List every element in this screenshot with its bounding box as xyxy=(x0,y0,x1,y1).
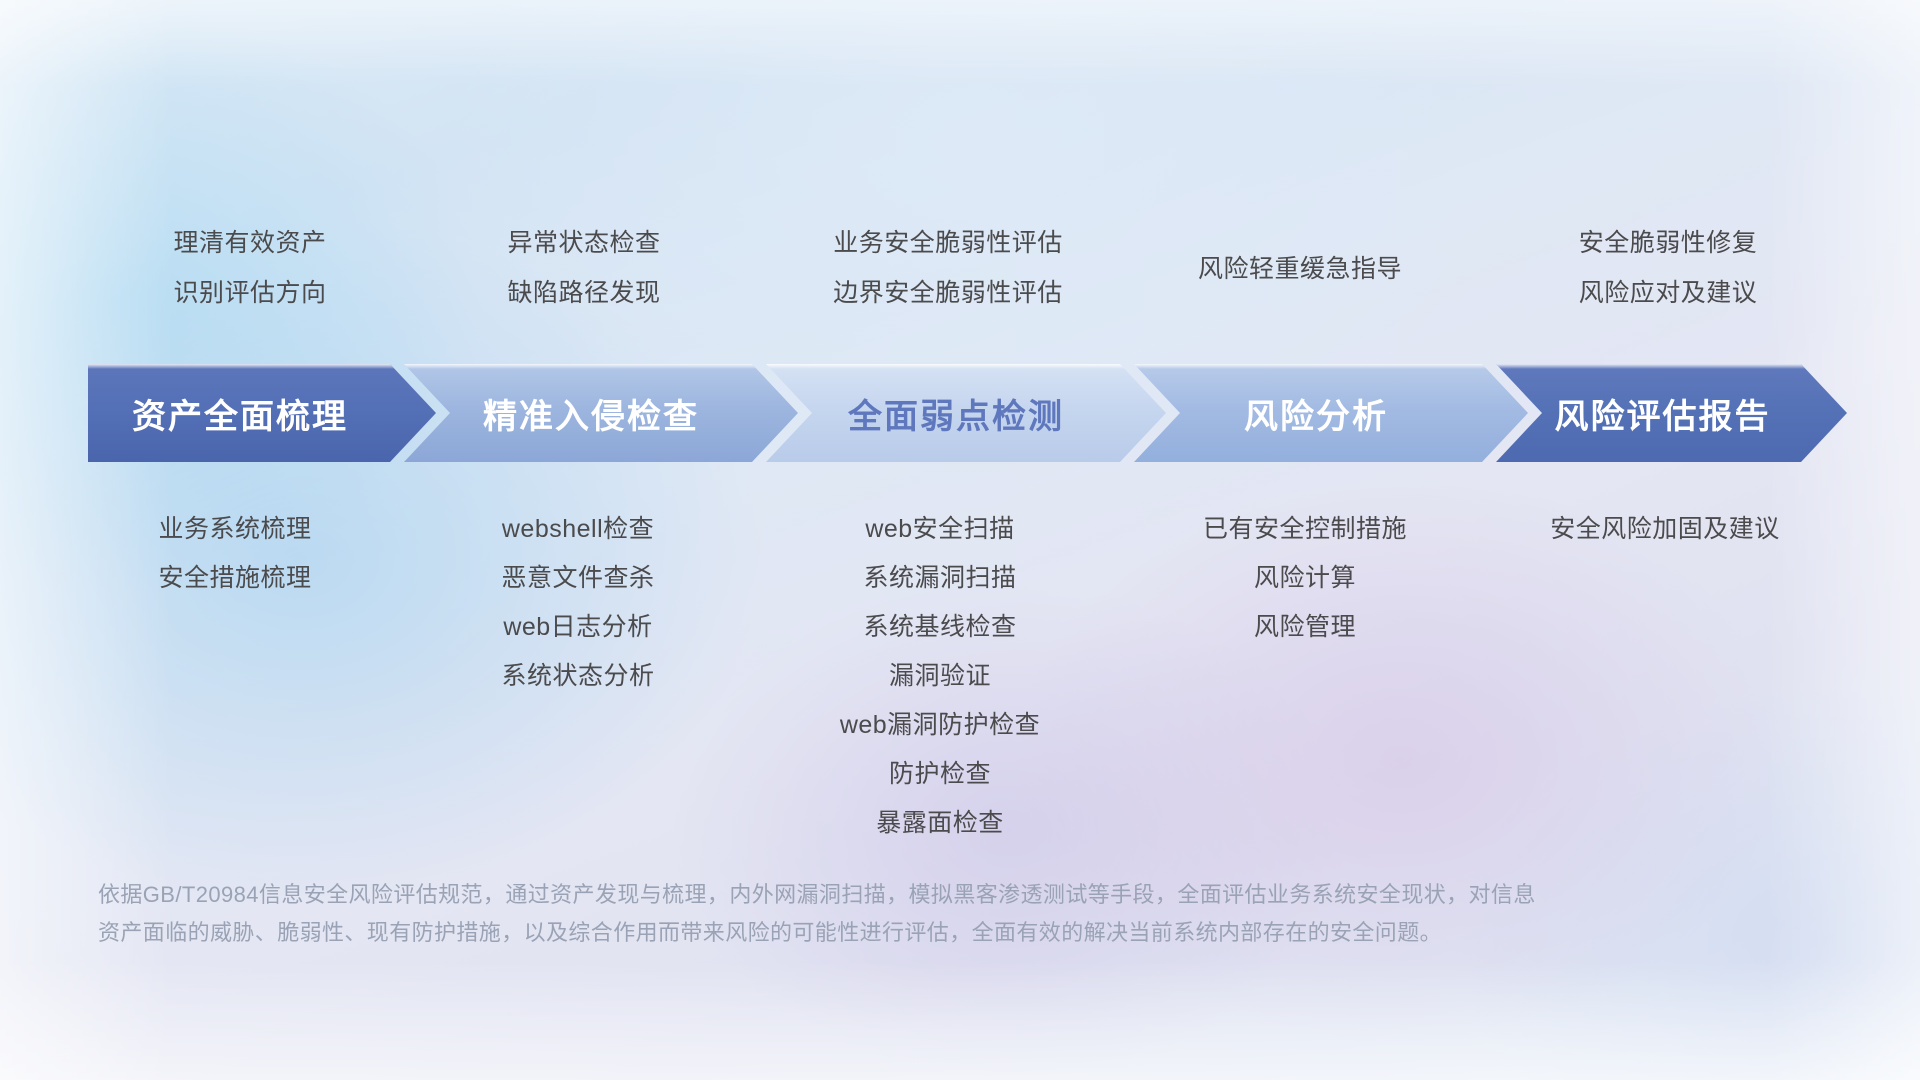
bottom-item: 安全措施梳理 xyxy=(158,554,311,603)
footer-description: 依据GB/T20984信息安全风险评估规范，通过资产发现与梳理，内外网漏洞扫描，… xyxy=(98,876,1718,952)
bottom-item: 系统漏洞扫描 xyxy=(863,554,1016,603)
bottom-item: web日志分析 xyxy=(503,603,652,652)
bottom-item: 业务系统梳理 xyxy=(158,505,311,554)
top-item: 异常状态检查 xyxy=(507,218,660,268)
top-item: 风险应对及建议 xyxy=(1579,268,1758,318)
stage-label: 资产全面梳理 xyxy=(132,389,348,438)
top-item: 安全脆弱性修复 xyxy=(1579,218,1758,268)
stage-chevron-intrusion-check[interactable]: 精准入侵检查 xyxy=(404,364,798,462)
stage-chevron-weakness-detection[interactable]: 全面弱点检测 xyxy=(766,364,1166,462)
stage-label: 风险分析 xyxy=(1244,389,1388,438)
bottom-item: 系统基线检查 xyxy=(863,603,1016,652)
bottom-item: web漏洞防护检查 xyxy=(840,701,1040,750)
bottom-item: 暴露面检查 xyxy=(876,799,1004,848)
stage-label: 风险评估报告 xyxy=(1555,389,1771,438)
bottom-item: 风险管理 xyxy=(1254,603,1356,652)
footer-line-1: 依据GB/T20984信息安全风险评估规范，通过资产发现与梳理，内外网漏洞扫描，… xyxy=(98,876,1718,914)
top-column-weakness-detection: 业务安全脆弱性评估 边界安全脆弱性评估 xyxy=(758,218,1138,318)
top-column-asset-inventory: 理清有效资产 识别评估方向 xyxy=(60,218,440,318)
bottom-item: 防护检查 xyxy=(889,750,991,799)
bottom-item: web安全扫描 xyxy=(865,505,1014,554)
bottom-column-weakness-detection: web安全扫描 系统漏洞扫描 系统基线检查 漏洞验证 web漏洞防护检查 防护检… xyxy=(740,505,1140,848)
bottom-item: 风险计算 xyxy=(1254,554,1356,603)
top-item: 边界安全脆弱性评估 xyxy=(833,268,1063,318)
slide-canvas: 理清有效资产 识别评估方向 异常状态检查 缺陷路径发现 业务安全脆弱性评估 边界… xyxy=(0,0,1920,1080)
bottom-column-intrusion-check: webshell检查 恶意文件查杀 web日志分析 系统状态分析 xyxy=(388,505,768,701)
top-item: 风险轻重缓急指导 xyxy=(1198,244,1402,294)
top-item: 识别评估方向 xyxy=(173,268,326,318)
process-arrow-band: 资产全面梳理 精准入侵检查 全面弱点检测 风险分析 风险评估报告 xyxy=(88,364,1847,462)
stage-label: 全面弱点检测 xyxy=(848,389,1064,438)
top-column-assessment-report: 安全脆弱性修复 风险应对及建议 xyxy=(1478,218,1858,318)
stage-label: 精准入侵检查 xyxy=(483,389,699,438)
footer-line-2: 资产面临的威胁、脆弱性、现有防护措施，以及综合作用而带来风险的可能性进行评估，全… xyxy=(98,914,1718,952)
bottom-column-risk-analysis: 已有安全控制措施 风险计算 风险管理 xyxy=(1125,505,1485,652)
bottom-column-asset-inventory: 业务系统梳理 安全措施梳理 xyxy=(45,505,425,603)
top-item: 缺陷路径发现 xyxy=(507,268,660,318)
bottom-column-assessment-report: 安全风险加固及建议 xyxy=(1455,505,1875,554)
bottom-item: 系统状态分析 xyxy=(501,652,654,701)
bottom-item: 安全风险加固及建议 xyxy=(1550,505,1780,554)
bottom-item: webshell检查 xyxy=(502,505,654,554)
top-item: 业务安全脆弱性评估 xyxy=(833,218,1063,268)
stage-chevron-risk-analysis[interactable]: 风险分析 xyxy=(1134,364,1528,462)
bottom-item: 恶意文件查杀 xyxy=(501,554,654,603)
bottom-item: 已有安全控制措施 xyxy=(1203,505,1407,554)
stage-chevron-assessment-report[interactable]: 风险评估报告 xyxy=(1496,364,1847,462)
top-item: 理清有效资产 xyxy=(173,218,326,268)
top-column-intrusion-check: 异常状态检查 缺陷路径发现 xyxy=(404,218,764,318)
top-column-risk-analysis: 风险轻重缓急指导 xyxy=(1110,244,1490,294)
bottom-item: 漏洞验证 xyxy=(889,652,991,701)
stage-chevron-asset-inventory[interactable]: 资产全面梳理 xyxy=(88,364,436,462)
